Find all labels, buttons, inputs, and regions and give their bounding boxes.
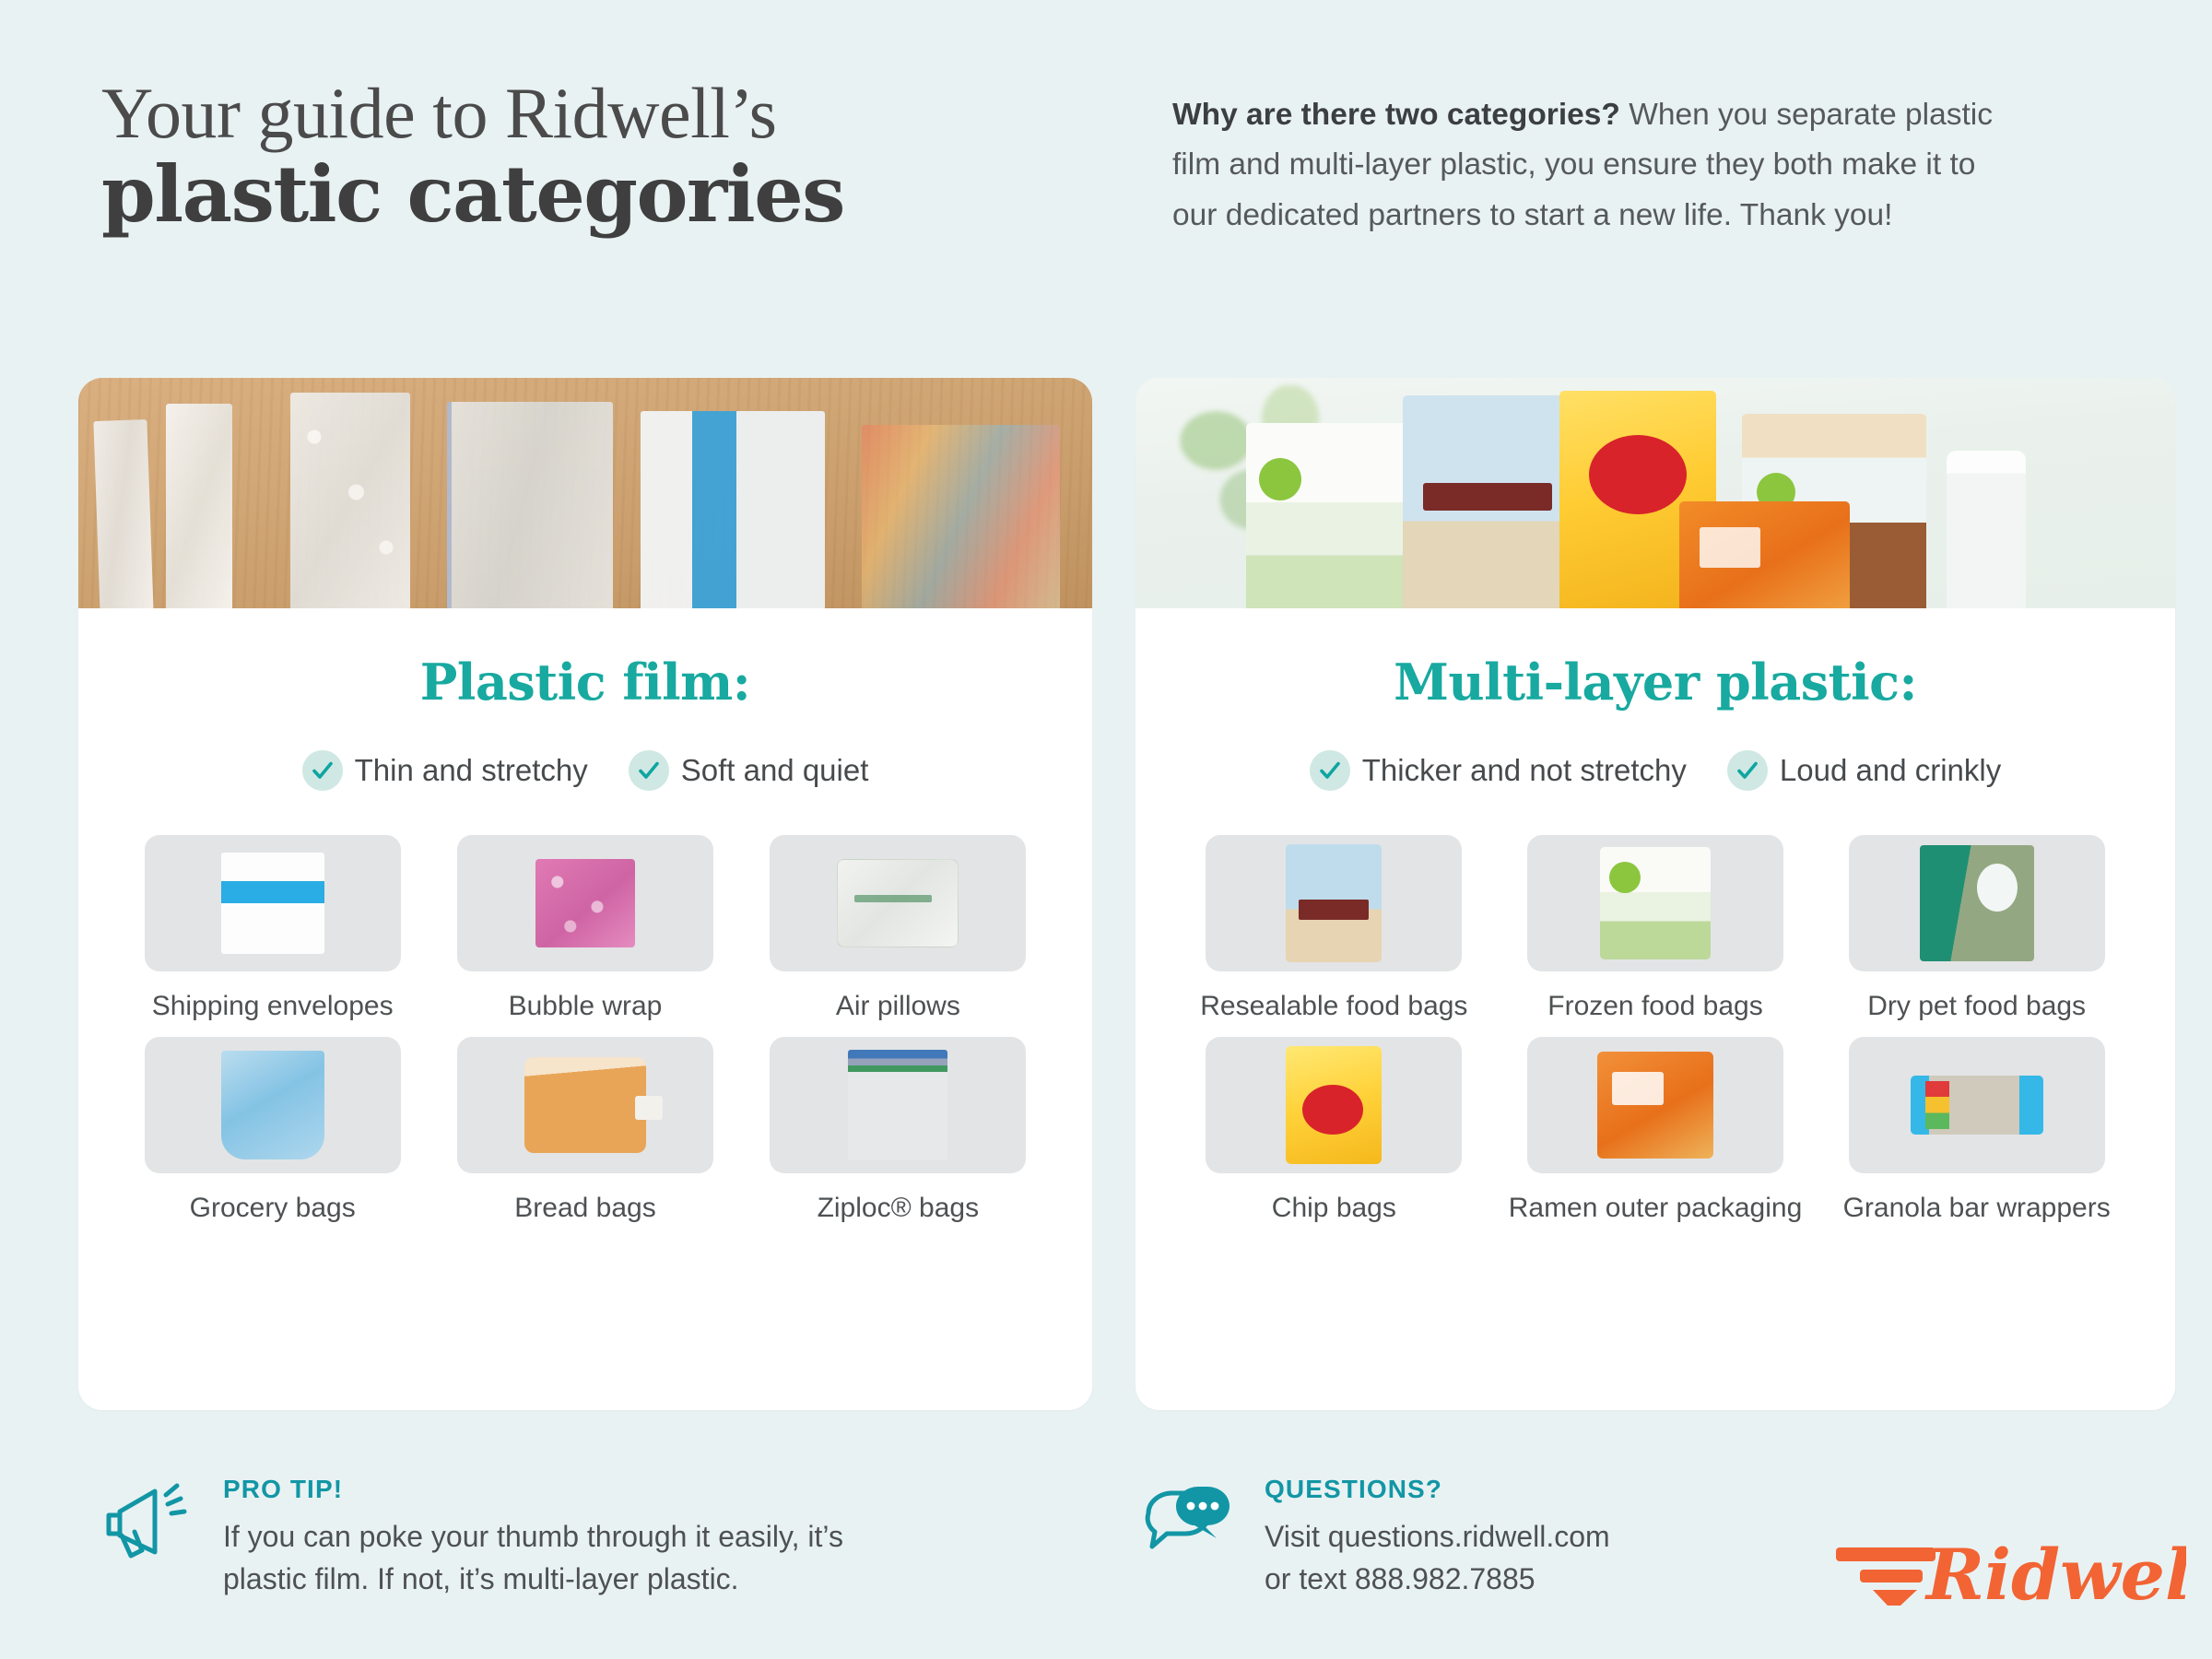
chip-bag-icon [1286,1046,1382,1164]
category-heading: Multi-layer plastic: [1187,653,2124,712]
item-thumbnail [1206,1037,1462,1173]
dry-pet-food-bag-icon [1920,845,2034,961]
questions-heading: QUESTIONS? [1265,1475,1610,1504]
package-photo-item [1947,451,2026,608]
item-thumbnail [145,1037,401,1173]
item-thumbnail [1849,1037,2105,1173]
item-thumbnail [1849,835,2105,971]
item-thumbnail [145,835,401,971]
trait-list-plastic-film: Thin and stretchy Soft and quiet [130,750,1041,791]
questions-line-1: Visit questions.ridwell.com [1265,1515,1610,1558]
category-card-multi-layer-plastic: Multi-layer plastic: Thicker and not str… [1135,378,2175,1410]
item-grid-multi-layer-plastic: Resealable food bags Frozen food bags Dr… [1187,835,2124,1225]
check-icon [302,750,343,791]
resealable-food-bag-icon [1286,844,1382,962]
item-label: Ziploc® bags [818,1192,980,1226]
list-item: Grocery bags [130,1037,415,1226]
check-icon [1310,750,1350,791]
title-line-2: plastic categories [101,154,1078,235]
item-thumbnail [457,1037,713,1173]
pro-tip-heading: PRO TIP! [223,1475,929,1504]
list-item: Shipping envelopes [130,835,415,1024]
film-photo-item [290,393,410,608]
trait-item: Loud and crinkly [1727,750,2001,791]
list-item: Bubble wrap [442,835,727,1024]
list-item: Dry pet food bags [1830,835,2124,1024]
ramen-packaging-icon [1597,1052,1713,1159]
infographic-page: Your guide to Ridwell’s plastic categori… [0,0,2212,1659]
list-item: Granola bar wrappers [1830,1037,2124,1226]
trait-label: Soft and quiet [681,753,869,788]
item-thumbnail [457,835,713,971]
list-item: Ziploc® bags [756,1037,1041,1226]
item-label: Dry pet food bags [1867,990,2086,1024]
list-item: Resealable food bags [1187,835,1481,1024]
package-photo-item [1403,395,1573,608]
trait-list-multi-layer-plastic: Thicker and not stretchy Loud and crinkl… [1187,750,2124,791]
check-icon [1727,750,1768,791]
film-photo-item [166,404,232,608]
trait-label: Loud and crinkly [1780,753,2001,788]
item-thumbnail [1527,835,1783,971]
category-card-plastic-film: Plastic film: Thin and stretchy Soft and… [78,378,1092,1410]
item-label: Bread bags [514,1192,655,1226]
chat-bubbles-icon [1141,1475,1237,1568]
pro-tip-block: PRO TIP! If you can poke your thumb thro… [100,1475,929,1601]
list-item: Ramen outer packaging [1509,1037,1803,1226]
bubble-wrap-icon [535,859,635,947]
megaphone-icon [100,1475,195,1566]
item-label: Grocery bags [190,1192,356,1226]
item-label: Ramen outer packaging [1509,1192,1803,1226]
frozen-food-bag-icon [1600,847,1711,959]
trait-item: Soft and quiet [629,750,869,791]
trait-item: Thin and stretchy [302,750,588,791]
item-grid-plastic-film: Shipping envelopes Bubble wrap Air pillo… [130,835,1041,1225]
item-thumbnail [770,1037,1026,1173]
list-item: Frozen food bags [1509,835,1803,1024]
check-icon [629,750,669,791]
item-label: Resealable food bags [1200,990,1467,1024]
category-heading: Plastic film: [130,653,1041,712]
card-body-plastic-film: Plastic film: Thin and stretchy Soft and… [78,653,1092,1262]
shipping-envelope-icon [221,853,324,954]
bread-bag-icon [524,1057,646,1153]
page-title: Your guide to Ridwell’s plastic categori… [101,76,1078,235]
item-label: Air pillows [836,990,960,1024]
hero-image-plastic-film [78,378,1092,608]
list-item: Chip bags [1187,1037,1481,1226]
hero-image-multi-layer-plastic [1135,378,2175,608]
item-thumbnail [1206,835,1462,971]
package-photo-item [1679,501,1850,608]
item-thumbnail [770,835,1026,971]
trait-item: Thicker and not stretchy [1310,750,1687,791]
air-pillow-icon [837,859,959,947]
logo-wordmark: Ridwell [1924,1534,2186,1616]
ziploc-bag-icon [848,1050,947,1160]
film-photo-item [93,419,153,608]
intro-paragraph: Why are there two categories? When you s… [1172,90,2011,241]
trait-label: Thin and stretchy [355,753,588,788]
item-label: Granola bar wrappers [1843,1192,2111,1226]
item-label: Chip bags [1272,1192,1396,1226]
card-body-multi-layer-plastic: Multi-layer plastic: Thicker and not str… [1135,653,2175,1262]
grocery-bag-icon [221,1051,324,1159]
item-label: Frozen food bags [1547,990,1762,1024]
film-photo-item [641,411,825,608]
questions-content: QUESTIONS? Visit questions.ridwell.com o… [1265,1475,1610,1601]
item-thumbnail [1527,1037,1783,1173]
list-item: Bread bags [442,1037,727,1226]
intro-question: Why are there two categories? [1172,98,1620,132]
granola-bar-wrapper-icon [1911,1076,2043,1135]
list-item: Air pillows [756,835,1041,1024]
ridwell-logo: Ridwell [1836,1525,2186,1627]
pro-tip-text: If you can poke your thumb through it ea… [223,1515,929,1601]
film-photo-item [447,402,613,608]
questions-line-2: or text 888.982.7885 [1265,1558,1610,1600]
pro-tip-content: PRO TIP! If you can poke your thumb thro… [223,1475,929,1601]
item-label: Shipping envelopes [152,990,394,1024]
trait-label: Thicker and not stretchy [1362,753,1687,788]
item-label: Bubble wrap [509,990,663,1024]
film-photo-item [862,425,1060,608]
questions-block: QUESTIONS? Visit questions.ridwell.com o… [1141,1475,1712,1601]
title-line-1: Your guide to Ridwell’s [101,76,1078,150]
